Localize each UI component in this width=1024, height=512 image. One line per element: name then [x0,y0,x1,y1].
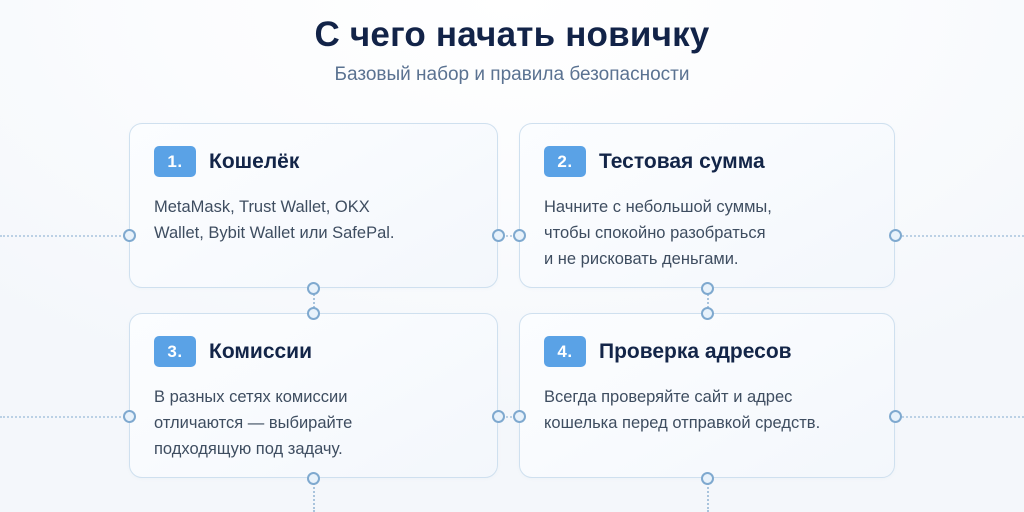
card-3-body: В разных сетях комиссии отличаются — выб… [154,384,473,462]
step-number-badge-4: 4. [544,336,586,367]
card-1-title: Кошелёк [209,149,299,175]
card-3-head: 3. Комиссии [154,336,473,367]
connector-node-circle-card1-right [492,229,505,242]
connector-line-right-row2 [893,416,1024,418]
connector-node-circle-card2-left [513,229,526,242]
connector-line-left-row1 [0,235,132,237]
infographic-canvas: С чего начать новичку Базовый набор и пр… [0,0,1024,512]
connector-node-circle-card3-bottom [307,472,320,485]
card-4-head: 4. Проверка адресов [544,336,870,367]
step-card-3[interactable]: 3. Комиссии В разных сетях комиссии отли… [129,313,498,478]
connector-node-circle-card3-left [123,410,136,423]
connector-node-circle-card3-top [307,307,320,320]
connector-node-circle-card2-bottom [701,282,714,295]
connector-line-right-row1 [893,235,1024,237]
card-2-body: Начните с небольшой суммы, чтобы спокойн… [544,194,870,272]
card-2-head: 2. Тестовая сумма [544,146,870,177]
card-3-title: Комиссии [209,339,312,365]
step-number-badge-2: 2. [544,146,586,177]
page-subtitle: Базовый набор и правила безопасности [0,63,1024,87]
connector-node-circle-card3-right [492,410,505,423]
step-number-badge-3: 3. [154,336,196,367]
connector-node-circle-card4-left [513,410,526,423]
connector-node-circle-card4-bottom [701,472,714,485]
step-card-1[interactable]: 1. Кошелёк MetaMask, Trust Wallet, OKX W… [129,123,498,288]
connector-node-circle-card1-bottom [307,282,320,295]
page-title: С чего начать новичку [0,14,1024,56]
connector-node-circle-card4-right [889,410,902,423]
connector-node-circle-card2-right [889,229,902,242]
step-card-4[interactable]: 4. Проверка адресов Всегда проверяйте са… [519,313,895,478]
card-1-head: 1. Кошелёк [154,146,473,177]
step-number-badge-1: 1. [154,146,196,177]
card-4-title: Проверка адресов [599,339,792,365]
card-1-body: MetaMask, Trust Wallet, OKX Wallet, Bybi… [154,194,473,246]
step-card-2[interactable]: 2. Тестовая сумма Начните с небольшой су… [519,123,895,288]
connector-node-circle-card1-left [123,229,136,242]
card-4-body: Всегда проверяйте сайт и адрес кошелька … [544,384,870,436]
connector-line-left-row2 [0,416,132,418]
card-2-title: Тестовая сумма [599,149,765,175]
header: С чего начать новичку Базовый набор и пр… [0,14,1024,87]
connector-node-circle-card4-top [701,307,714,320]
